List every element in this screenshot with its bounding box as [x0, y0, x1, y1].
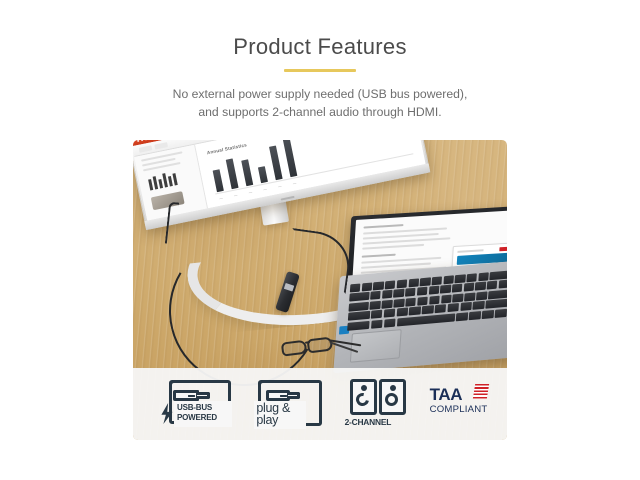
feature-label-line-2: POWERED: [177, 414, 217, 422]
dashboard-bar-chart: [208, 140, 297, 192]
feature-label-line-1: 2-CHANNEL: [345, 418, 392, 426]
product-features-page: Product Features No external power suppl…: [0, 0, 640, 480]
usb-plug-tip-icon: [288, 392, 300, 399]
dialog-badge: [499, 247, 507, 252]
speaker-left-icon: [350, 379, 377, 415]
usb-plug-icon: [173, 390, 199, 401]
eyeglasses-lens: [281, 340, 308, 357]
speaker-right-icon: [379, 379, 406, 415]
compliant-text: COMPLIANT: [430, 404, 488, 415]
usb-plug-tip-icon: [197, 392, 210, 399]
title-accent-divider: [284, 69, 356, 72]
subtitle-line-1: No external power supply needed (USB bus…: [0, 85, 640, 103]
product-photo: Annual Statistics — — — — — —: [133, 140, 507, 440]
feature-icon-strip: USB-BUS POWERED plug & play: [133, 368, 507, 440]
page-subtitle: No external power supply needed (USB bus…: [0, 85, 640, 121]
usb-plug-pin-icon: [280, 395, 287, 398]
taa-text: TAA: [430, 385, 462, 405]
feature-label-line-1: USB-BUS: [177, 404, 212, 412]
feature-plug-and-play: plug & play: [252, 379, 322, 429]
feature-usb-bus-powered: USB-BUS POWERED: [157, 379, 232, 429]
feature-label-line-2: play: [256, 414, 278, 427]
feature-two-channel: 2-CHANNEL: [345, 378, 410, 430]
page-title: Product Features: [0, 34, 640, 60]
sidebar-mini-bars: [148, 171, 178, 190]
monitor-logo: [281, 196, 295, 201]
us-flag-icon: [472, 384, 488, 399]
feature-taa-compliant: TAA COMPLIANT: [430, 383, 493, 425]
header: Product Features No external power suppl…: [0, 34, 640, 121]
usb-plug-pin-icon: [188, 395, 195, 398]
laptop-keyboard: [347, 270, 507, 336]
subtitle-line-2: and supports 2-channel audio through HDM…: [0, 103, 640, 121]
adapter-label: [284, 283, 294, 291]
